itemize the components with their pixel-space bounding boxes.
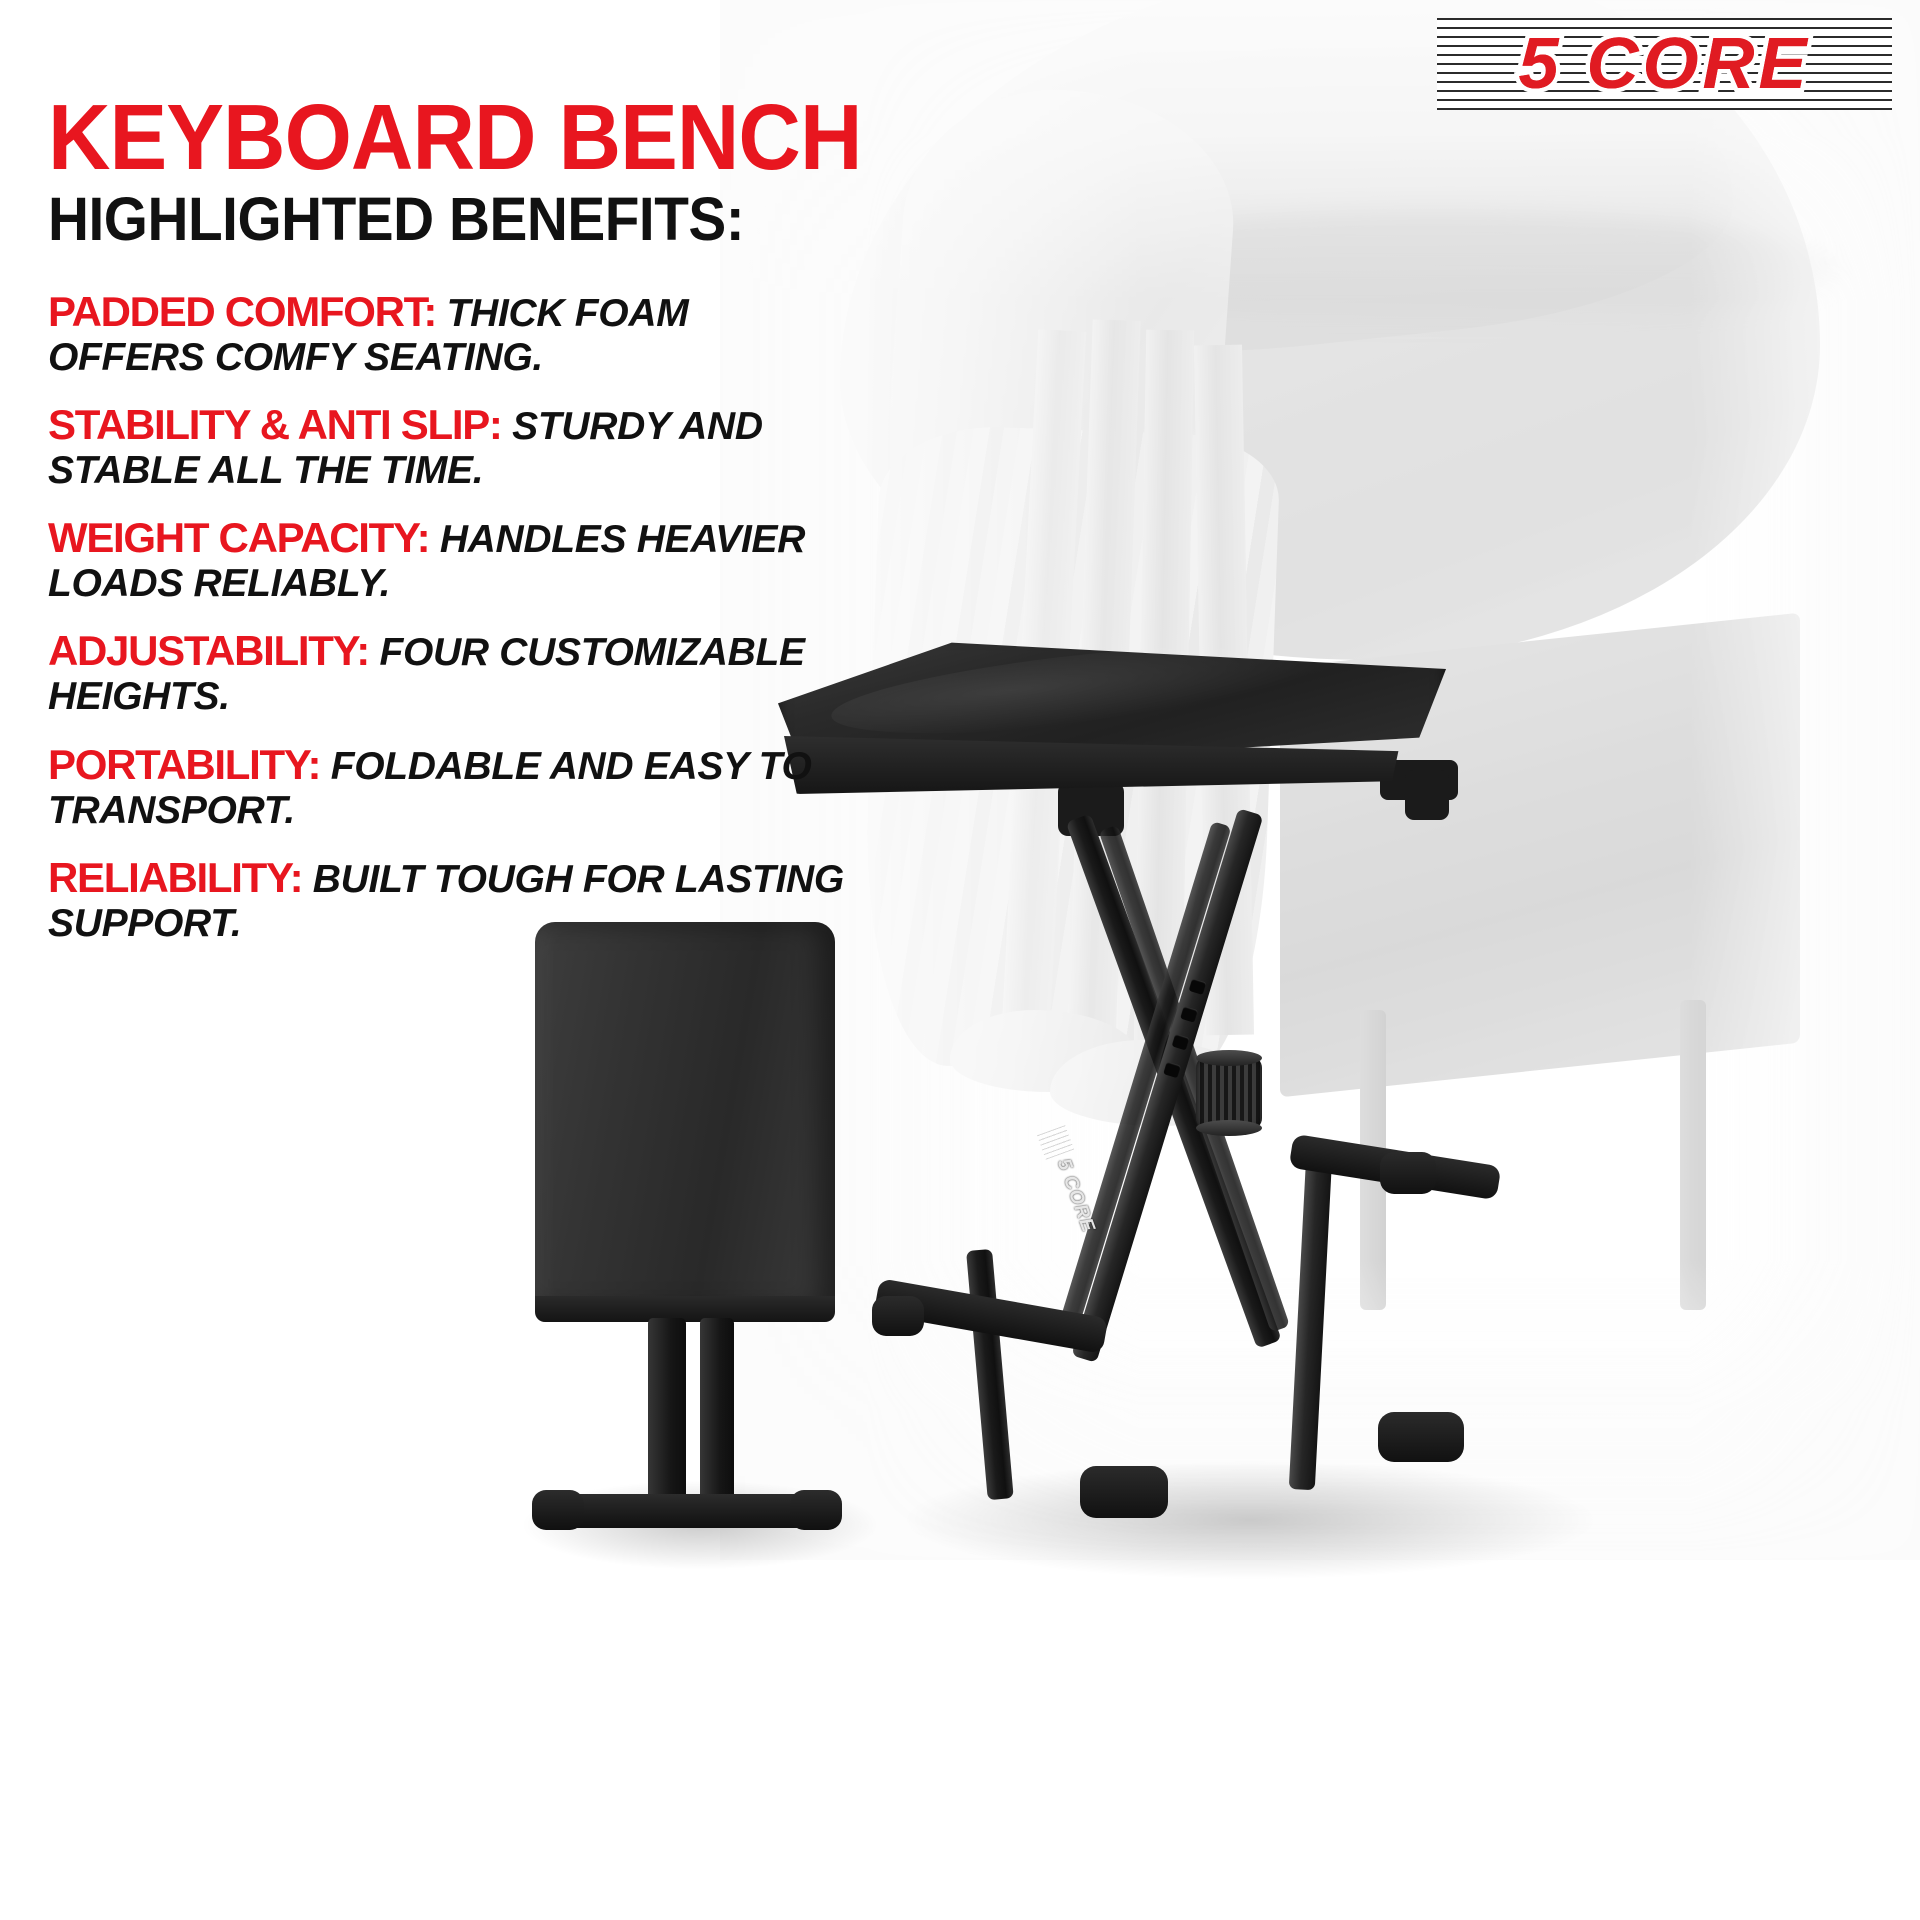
page-subtitle: HIGHLIGHTED BENEFITS: (48, 189, 862, 250)
folded-bench-cushion-edge (535, 1296, 835, 1322)
benefit-item-3: ADJUSTABILITY: FOUR CUSTOMIZABLE HEIGHTS… (48, 627, 848, 719)
folded-bench-post-right (700, 1318, 734, 1504)
headline-block: KEYBOARD BENCH HIGHLIGHTED BENEFITS: (48, 92, 923, 250)
benefit-label-3: ADJUSTABILITY: (48, 627, 369, 674)
seat-side-edge (784, 736, 1424, 794)
adjustment-hole (1172, 1034, 1190, 1051)
rubber-foot-back (1378, 1412, 1464, 1462)
bench-seat-cushion (778, 640, 1446, 810)
brand-logo: 5 CORE 5 CORE (1437, 18, 1892, 110)
rubber-foot-right-outer (1380, 1152, 1436, 1194)
benefit-label-0: PADDED COMFORT: (48, 288, 436, 335)
rubber-foot-front (1080, 1466, 1168, 1518)
logo-text: 5 CORE (1437, 18, 1892, 110)
adjustment-hole (1163, 1061, 1181, 1078)
folded-bench-cushion (535, 922, 835, 1310)
benefit-label-1: STABILITY & ANTI SLIP: (48, 401, 502, 448)
benefit-item-4: PORTABILITY: FOLDABLE AND EASY TO TRANSP… (48, 741, 848, 833)
benefit-item-5: RELIABILITY: BUILT TOUGH FOR LASTING SUP… (48, 854, 848, 946)
knob-cap-top (1196, 1050, 1262, 1066)
benefit-label-5: RELIABILITY: (48, 854, 302, 901)
benefits-list: PADDED COMFORT: THICK FOAM OFFERS COMFY … (48, 288, 848, 967)
benefit-item-1: STABILITY & ANTI SLIP: STURDY AND STABLE… (48, 401, 848, 493)
folded-bench-rubber-foot-right (790, 1490, 842, 1530)
folded-bench-rubber-foot-left (532, 1490, 584, 1530)
decal-staff-lines-icon (1037, 1125, 1074, 1160)
benefit-label-2: WEIGHT CAPACITY: (48, 514, 429, 561)
page-title: KEYBOARD BENCH (48, 92, 862, 183)
infographic-canvas: 5 CORE 5 CORE KEYBOARD BENCH HIGHLIGHTED… (0, 0, 1920, 1920)
height-adjustment-knob[interactable] (1196, 1056, 1262, 1130)
rubber-foot-left-outer (872, 1296, 924, 1336)
benefit-item-0: PADDED COMFORT: THICK FOAM OFFERS COMFY … (48, 288, 848, 380)
adjustment-hole (1180, 1006, 1198, 1023)
benefit-item-2: WEIGHT CAPACITY: HANDLES HEAVIER LOADS R… (48, 514, 848, 606)
benefit-label-4: PORTABILITY: (48, 741, 320, 788)
folded-bench-post-left (648, 1318, 686, 1504)
knob-cap-bottom (1196, 1120, 1262, 1136)
